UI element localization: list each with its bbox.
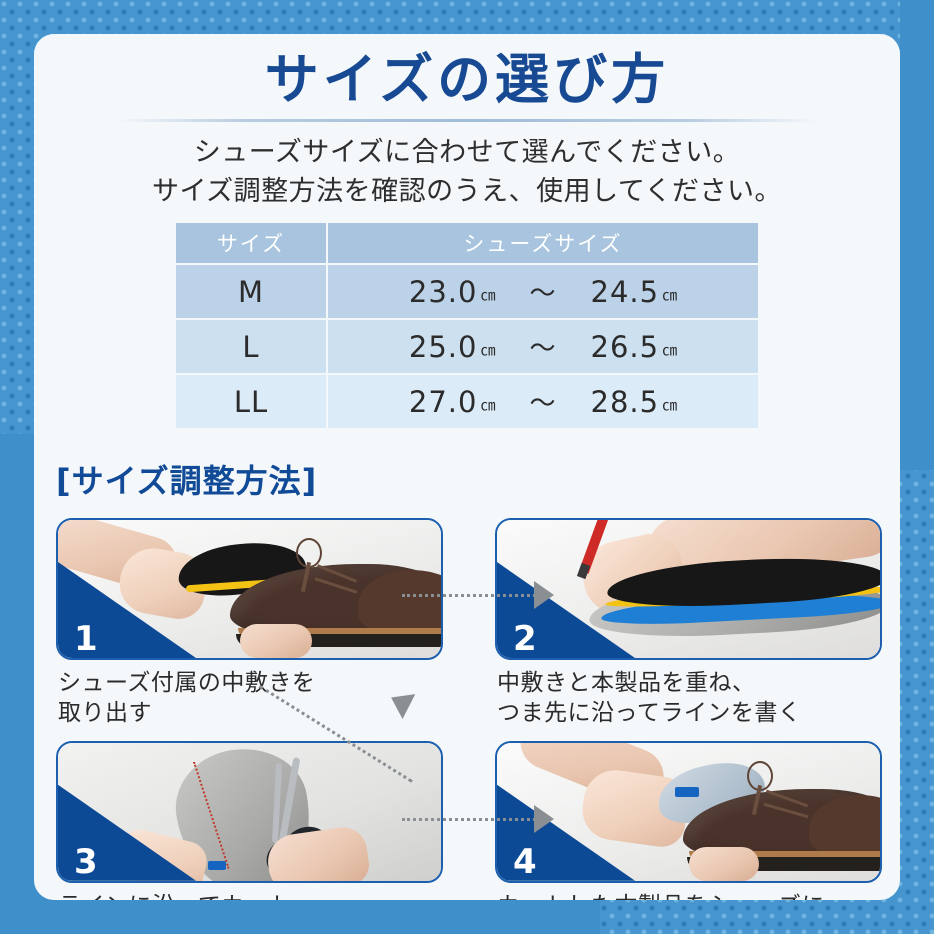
step-1-photo: 1 <box>56 518 443 660</box>
header-size: サイズ <box>176 223 326 263</box>
arrow-step3-to-step4-icon <box>534 805 554 833</box>
cell-size: M <box>176 265 326 318</box>
step-1-caption-line-1: シューズ付属の中敷きを <box>58 668 439 698</box>
connector-step3-to-step4 <box>402 818 542 821</box>
step-1: 1 シューズ付属の中敷きを 取り出す <box>56 518 439 729</box>
cell-size: L <box>176 320 326 373</box>
frame-plain-top-right <box>900 0 934 470</box>
unit-cm: ㎝ <box>662 341 677 359</box>
cell-range: 23.0㎝ 〜 24.5㎝ <box>328 265 758 318</box>
step-2-number: 2 <box>513 622 537 656</box>
size-table: サイズ シューズサイズ M 23.0㎝ 〜 24.5㎝ L <box>174 221 760 430</box>
subtitle-line-1: シューズサイズに合わせて選んでください。 <box>34 134 900 172</box>
unit-cm: ㎝ <box>480 341 495 359</box>
unit-cm: ㎝ <box>662 396 677 414</box>
cell-range: 25.0㎝ 〜 26.5㎝ <box>328 320 758 373</box>
step-3-number: 3 <box>74 845 98 879</box>
subtitle-line-2: サイズ調整方法を確認のうえ、使用してください。 <box>34 173 900 211</box>
table-header-row: サイズ シューズサイズ <box>176 223 758 263</box>
steps-grid: 1 シューズ付属の中敷きを 取り出す <box>34 518 900 900</box>
title-divider <box>117 119 817 122</box>
step-3-caption-line-1: ラインに沿ってカット <box>58 891 439 900</box>
table-row: L 25.0㎝ 〜 26.5㎝ <box>176 320 758 373</box>
unit-cm: ㎝ <box>480 396 495 414</box>
page-title: サイズの選び方 <box>34 34 900 109</box>
step-1-number: 1 <box>74 622 98 656</box>
step-2-caption: 中敷きと本製品を重ね、 つま先に沿ってラインを書く <box>497 668 878 729</box>
section-heading-adjustment: [サイズ調整方法] <box>56 456 900 502</box>
range-max: 28.5㎝ <box>591 385 678 419</box>
range-min: 27.0㎝ <box>409 385 496 419</box>
range-max: 24.5㎝ <box>591 275 678 309</box>
connector-step1-to-step2 <box>402 594 542 597</box>
step-2-caption-line-2: つま先に沿ってラインを書く <box>497 698 878 728</box>
step-4-number: 4 <box>513 845 537 879</box>
content-panel: サイズの選び方 シューズサイズに合わせて選んでください。 サイズ調整方法を確認の… <box>34 34 900 900</box>
step-4-caption: カットした本製品をシューズに 入れる <box>497 891 878 900</box>
subtitle-block: シューズサイズに合わせて選んでください。 サイズ調整方法を確認のうえ、使用してく… <box>34 134 900 211</box>
step-2-caption-line-1: 中敷きと本製品を重ね、 <box>497 668 878 698</box>
step-2: 2 中敷きと本製品を重ね、 つま先に沿ってラインを書く <box>495 518 878 729</box>
cell-size: LL <box>176 375 326 428</box>
step-4-caption-line-1: カットした本製品をシューズに <box>497 891 878 900</box>
step-3-caption: ラインに沿ってカット <box>58 891 439 900</box>
infographic-page: サイズの選び方 シューズサイズに合わせて選んでください。 サイズ調整方法を確認の… <box>0 0 934 934</box>
header-shoe-size: シューズサイズ <box>328 223 758 263</box>
table-row: M 23.0㎝ 〜 24.5㎝ <box>176 265 758 318</box>
range-min: 25.0㎝ <box>409 330 496 364</box>
range-max: 26.5㎝ <box>591 330 678 364</box>
cell-range: 27.0㎝ 〜 28.5㎝ <box>328 375 758 428</box>
step-1-caption: シューズ付属の中敷きを 取り出す <box>58 668 439 729</box>
table-row: LL 27.0㎝ 〜 28.5㎝ <box>176 375 758 428</box>
range-tilde: 〜 <box>529 383 556 420</box>
range-tilde: 〜 <box>529 328 556 365</box>
arrow-step1-to-step2-icon <box>534 581 554 609</box>
unit-cm: ㎝ <box>662 286 677 304</box>
step-1-caption-line-2: 取り出す <box>58 698 439 728</box>
unit-cm: ㎝ <box>480 286 495 304</box>
frame-plain-left <box>0 434 34 934</box>
range-min: 23.0㎝ <box>409 275 496 309</box>
range-tilde: 〜 <box>529 273 556 310</box>
